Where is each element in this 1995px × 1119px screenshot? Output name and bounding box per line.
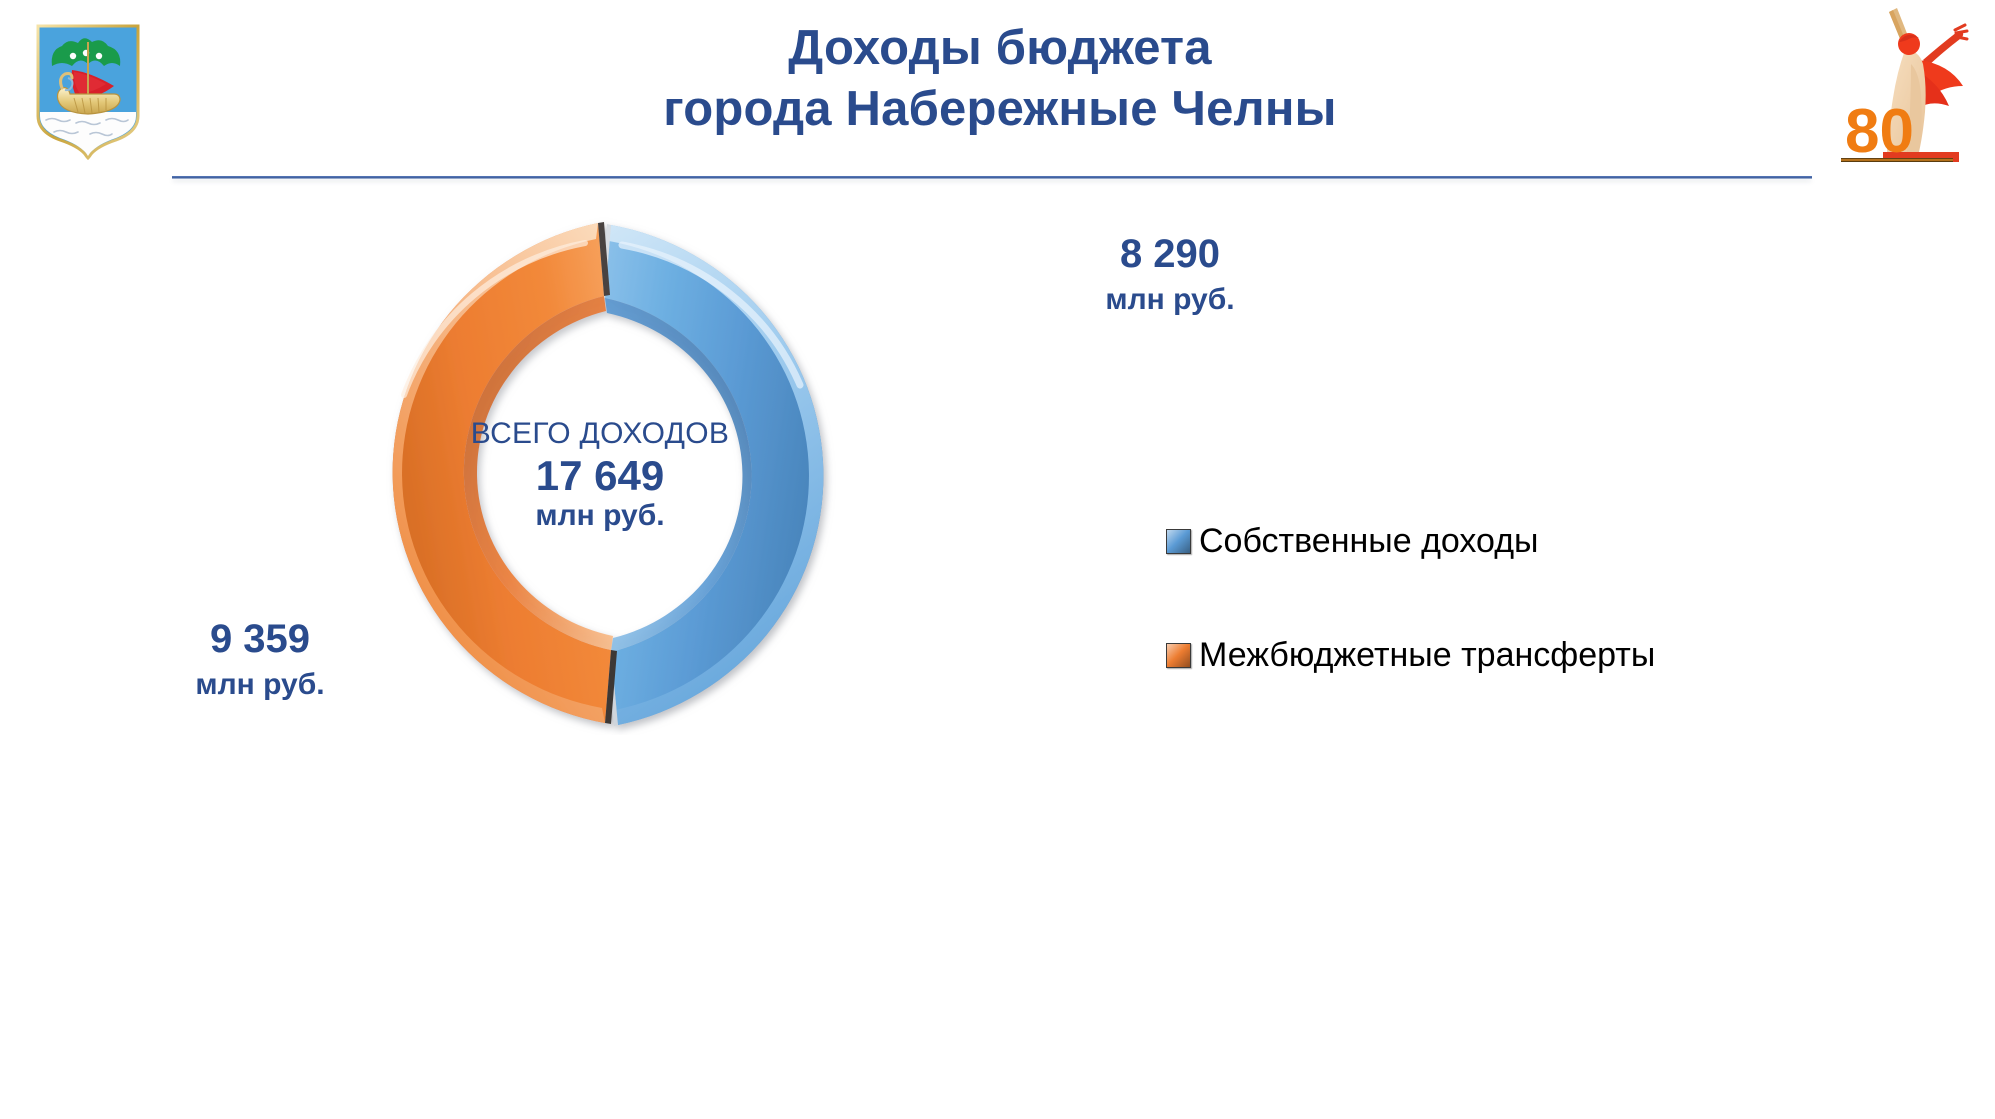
- callout-own-revenue-amount: 8 290: [1020, 230, 1320, 278]
- page-title: Доходы бюджета города Набережные Челны: [430, 18, 1570, 140]
- legend-swatch-orange-icon: [1166, 643, 1191, 668]
- callout-transfers-unit: млн руб.: [110, 667, 410, 703]
- page-title-line-2: города Набережные Челны: [430, 79, 1570, 140]
- callout-own-revenue: 8 290 млн руб.: [1020, 230, 1320, 318]
- callout-transfers-amount: 9 359: [110, 615, 410, 663]
- victory-80-anniversary-logo: 80 ПОБЕДА!: [1827, 2, 1977, 162]
- coat-of-arms-icon: [28, 20, 148, 160]
- legend-item-transfers[interactable]: Межбюджетные трансферты: [1166, 632, 1806, 678]
- legend-item-own-revenue[interactable]: Собственные доходы: [1166, 518, 1806, 564]
- title-divider: [172, 176, 1812, 179]
- svg-text:80: 80: [1845, 97, 1914, 162]
- callout-own-revenue-unit: млн руб.: [1020, 282, 1320, 318]
- svg-text:ПОБЕДА!: ПОБЕДА!: [1847, 161, 1928, 162]
- page-title-line-1: Доходы бюджета: [430, 18, 1570, 79]
- doughnut-svg: [330, 215, 870, 735]
- legend-label-own-revenue: Собственные доходы: [1199, 524, 1539, 558]
- chart-legend: Собственные доходы Межбюджетные трансфер…: [1166, 518, 1806, 746]
- legend-label-transfers: Межбюджетные трансферты: [1199, 638, 1655, 672]
- legend-swatch-blue-icon: [1166, 529, 1191, 554]
- callout-transfers: 9 359 млн руб.: [110, 615, 410, 703]
- slide-header: Доходы бюджета города Набережные Челны: [0, 0, 1995, 185]
- revenue-doughnut-chart: [330, 215, 870, 735]
